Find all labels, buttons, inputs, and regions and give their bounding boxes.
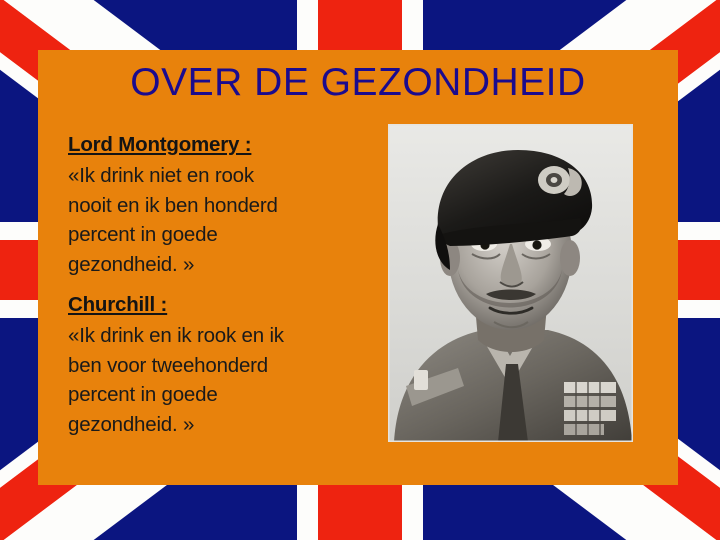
quote-line: «Ik drink niet en rook	[68, 164, 254, 187]
quote-line: nooit en ik ben honderd	[68, 194, 278, 217]
quote-line: gezondheid. »	[68, 253, 194, 276]
quote-text-montgomery: «Ik drink niet en rook nooit en ik ben h…	[68, 161, 368, 279]
quote-speaker-churchill: Churchill :	[68, 293, 167, 317]
quote-line: percent in goede	[68, 223, 218, 246]
quote-text-churchill: «Ik drink en ik rook en ik ben voor twee…	[68, 321, 368, 439]
quote-block-churchill: Churchill : «Ik drink en ik rook en ik b…	[68, 293, 368, 439]
portrait-photo-montgomery	[388, 124, 633, 442]
quote-line: percent in goede	[68, 383, 218, 406]
portrait-photo-graphic	[388, 124, 633, 442]
quote-block-montgomery: Lord Montgomery : «Ik drink niet en rook…	[68, 133, 368, 279]
quote-line: «Ik drink en ik rook en ik	[68, 324, 284, 347]
quote-line: ben voor tweehonderd	[68, 354, 268, 377]
page-title: OVER DE GEZONDHEID	[38, 62, 678, 105]
slide: OVER DE GEZONDHEID Lord Montgomery : «Ik…	[0, 0, 720, 540]
quotes-column: Lord Montgomery : «Ik drink niet en rook…	[68, 133, 368, 439]
content-panel: OVER DE GEZONDHEID Lord Montgomery : «Ik…	[38, 50, 678, 485]
quote-speaker-montgomery: Lord Montgomery :	[68, 133, 251, 157]
quote-line: gezondheid. »	[68, 413, 194, 436]
